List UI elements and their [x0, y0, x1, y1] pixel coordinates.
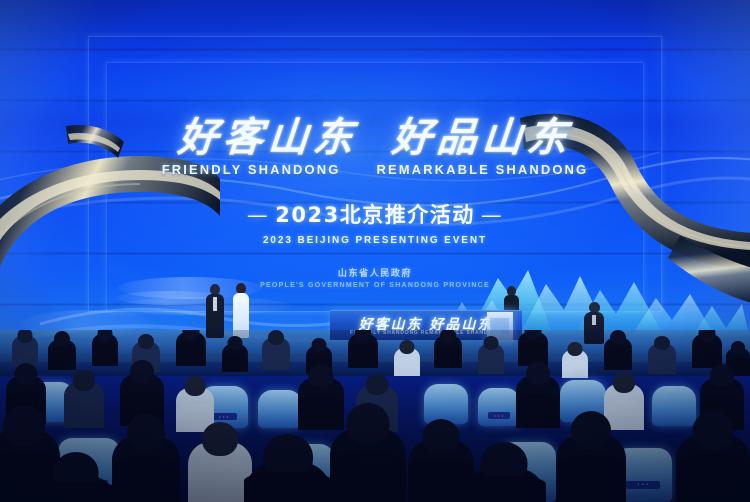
audience-member-foreground: [244, 462, 332, 502]
chair-tag-text: • • •: [488, 412, 510, 419]
audience-member: [112, 436, 180, 502]
host-male-shirt: [213, 297, 217, 311]
event-subtitle-cjk: —2023北京推介活动—: [0, 199, 750, 229]
organizer-block: 山东省人民政府 PEOPLE'S GOVERNMENT OF SHANDONG …: [0, 266, 750, 289]
chair-cover: [258, 390, 302, 428]
subtitle-dash-right: —: [475, 203, 510, 227]
audience-member: [562, 350, 588, 378]
audience-member-foreground: [462, 468, 546, 502]
subtitle-cjk-text: 2023北京推介活动: [275, 203, 474, 227]
audience-member: [648, 344, 676, 374]
audience-member: [516, 376, 560, 428]
headline-cjk-remarkable-shandong: 好品山东: [390, 118, 573, 158]
audience-member-foreground: [36, 476, 116, 502]
organizer-latin: PEOPLE'S GOVERNMENT OF SHANDONG PROVINCE: [0, 282, 750, 289]
headline-latin-remarkable-shandong: REMARKABLE SHANDONG: [376, 162, 588, 177]
audience-member: [48, 340, 76, 370]
audience-member: [518, 332, 548, 366]
audience-member: [92, 334, 118, 366]
audience-member: [348, 334, 378, 368]
audience-member: [434, 336, 462, 368]
audience-member: [12, 336, 38, 366]
chair-name-tag: • • •: [211, 413, 237, 420]
audience-member: [262, 338, 290, 370]
audience-member: [692, 334, 722, 368]
event-subtitle-latin: 2023 BEIJING PRESENTING EVENT: [0, 235, 750, 246]
audience-member: [188, 442, 252, 502]
stage-event-screenshot: 好客山东 好品山东 FRIENDLY SHANDONG REMARKABLE S…: [0, 0, 750, 502]
organizer-cjk: 山东省人民政府: [0, 266, 750, 279]
audience-area: • • • • • • • • • • •: [0, 330, 750, 502]
audience-member: [556, 434, 626, 502]
chair-cover: [424, 384, 468, 424]
headline-cjk-friendly-shandong: 好客山东: [176, 118, 359, 158]
audience-member: [330, 428, 406, 502]
subtitle-dash-left: —: [241, 203, 276, 227]
headline-latin-friendly-shandong: FRIENDLY SHANDONG: [162, 162, 341, 177]
chair-cover: [652, 386, 696, 426]
audience-member: [478, 344, 504, 374]
audience-member: [604, 338, 632, 370]
headline-cjk-row: 好客山东 好品山东: [0, 118, 750, 158]
chair-name-tag: • • •: [488, 412, 510, 419]
chair-tag-text: • • •: [211, 413, 237, 420]
chair-name-tag: • • •: [626, 481, 660, 489]
audience-member: [222, 344, 248, 372]
audience-member: [176, 332, 206, 366]
audience-member: [676, 434, 750, 502]
attendant-shirt: [592, 315, 596, 325]
audience-member: [298, 378, 344, 430]
chair-tag-text: • • •: [626, 481, 660, 489]
chair-cover: • • •: [478, 388, 520, 426]
audience-member: [394, 348, 420, 376]
audience-member: [64, 382, 104, 428]
backdrop-headline-block: 好客山东 好品山东 FRIENDLY SHANDONG REMARKABLE S…: [0, 118, 750, 246]
headline-latin-row: FRIENDLY SHANDONG REMARKABLE SHANDONG: [0, 162, 750, 177]
